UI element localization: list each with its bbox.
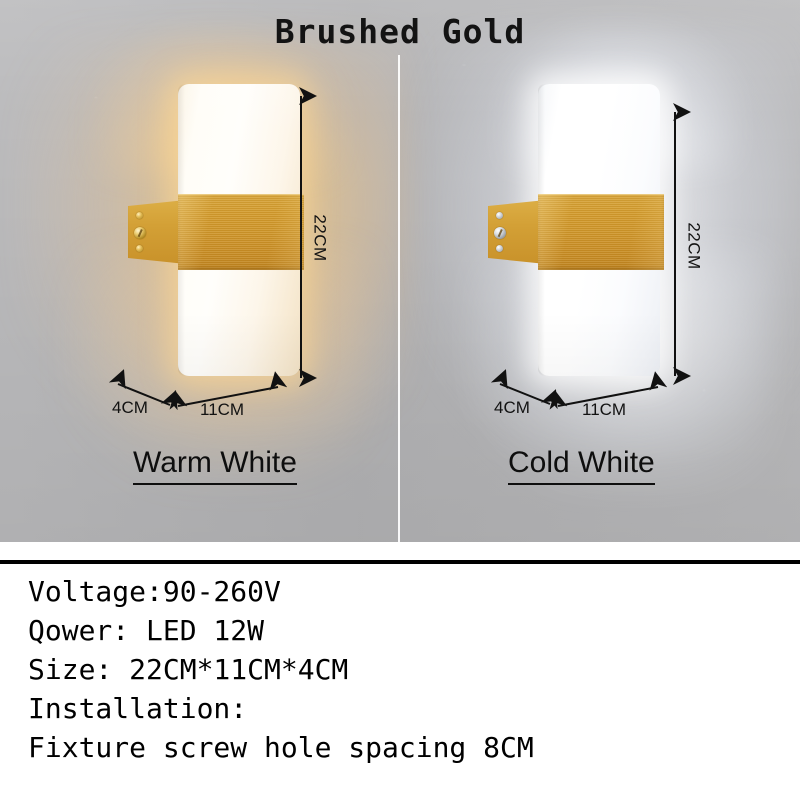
mount-screw-top (136, 212, 143, 219)
mount-screw-bottom (136, 245, 143, 252)
mount-screw-bottom (496, 245, 503, 252)
photo-area: 22CM 4CM 11CM 22CM 4CM 11CM Warm White C… (0, 0, 800, 542)
page-title: Brushed Gold (0, 12, 800, 51)
spec-line-size: Size: 22CM*11CM*4CM (28, 650, 784, 689)
depth-label-warm: 4CM (112, 398, 148, 418)
lamp-warm-white (128, 84, 308, 384)
mount-screw-top (496, 212, 503, 219)
width-label-cold: 11CM (582, 400, 626, 420)
band-highlight (538, 194, 664, 270)
caption-warm-white: Warm White (133, 446, 297, 485)
mount-screw-center (494, 227, 506, 239)
panel-divider (398, 55, 400, 542)
mount-screw-center (134, 227, 146, 239)
lamp-cold-white (488, 84, 668, 384)
depth-label-cold: 4CM (494, 398, 530, 418)
spec-line-screw-spacing: Fixture screw hole spacing 8CM (28, 728, 784, 767)
caption-warm-white-text: Warm White (133, 446, 297, 485)
caption-cold-white: Cold White (508, 446, 655, 485)
spec-list: Voltage:90-260V Qower: LED 12W Size: 22C… (28, 572, 784, 767)
spec-line-voltage: Voltage:90-260V (28, 572, 784, 611)
caption-cold-white-text: Cold White (508, 446, 655, 485)
spec-line-installation: Installation: (28, 689, 784, 728)
height-label-cold: 22CM (684, 222, 704, 269)
width-label-warm: 11CM (200, 400, 244, 420)
brushed-gold-band-cold (538, 194, 664, 270)
product-image: 22CM 4CM 11CM 22CM 4CM 11CM Warm White C… (0, 0, 800, 800)
spec-separator-rule (0, 560, 800, 564)
spec-line-power: Qower: LED 12W (28, 611, 784, 650)
height-label-warm: 22CM (310, 214, 330, 261)
